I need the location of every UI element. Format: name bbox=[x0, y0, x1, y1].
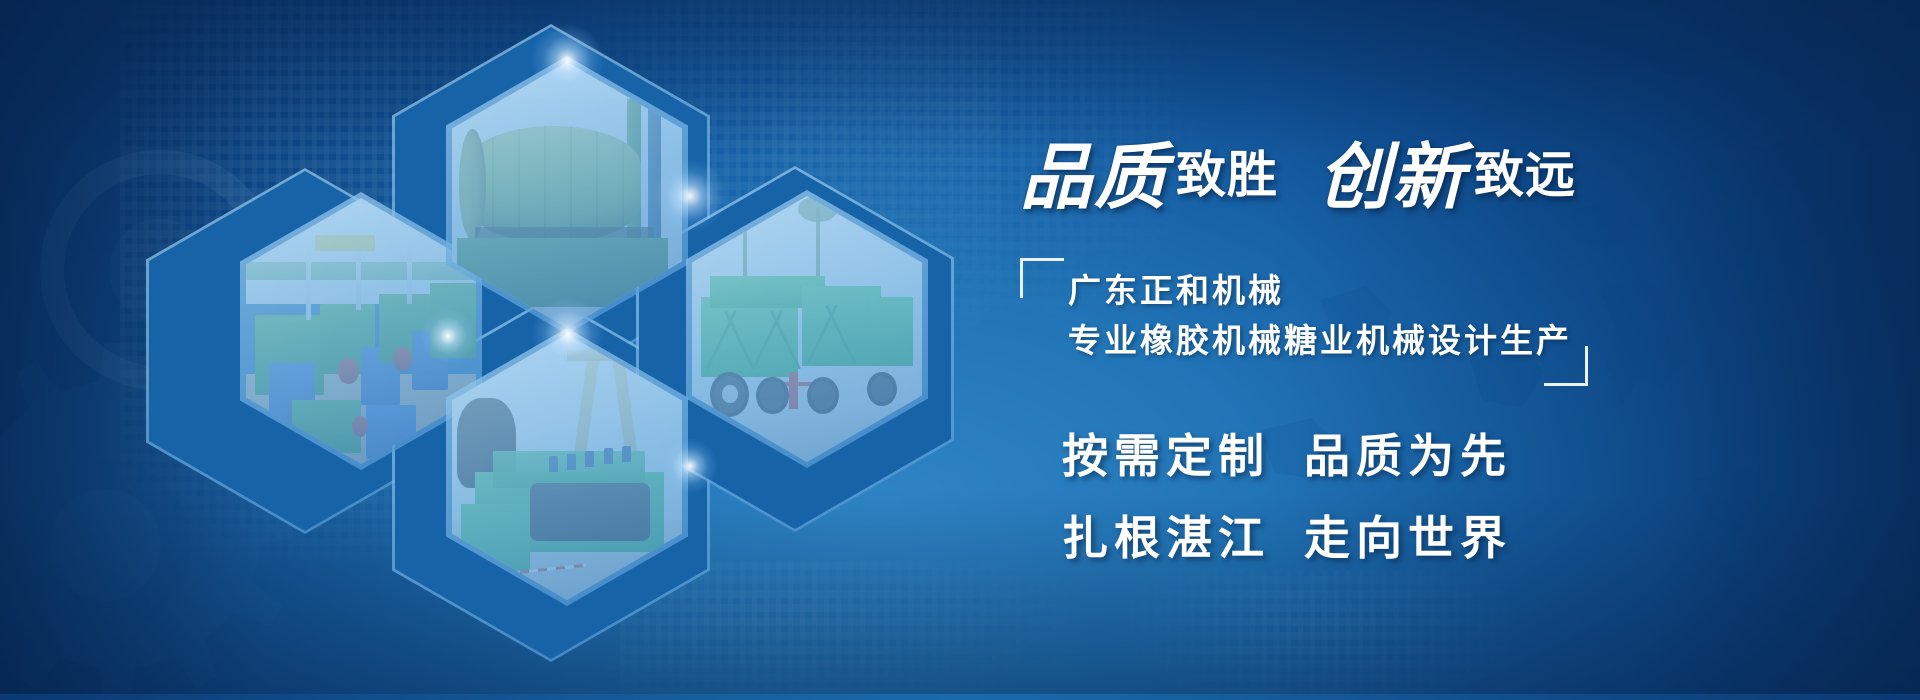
hexagon-photo-green-drum[interactable] bbox=[452, 62, 682, 328]
headline-part1-small: 致胜 bbox=[1176, 147, 1278, 203]
slogan-1-left: 按需定制 bbox=[1062, 429, 1270, 483]
promo-banner: 品质致胜创新致远 广东正和机械 专业橡胶机械糖业机械设计生产 按需定制品质为先 … bbox=[0, 0, 1920, 700]
slogan-line-2: 扎根湛江走向世界 bbox=[1062, 502, 1512, 568]
subtitle-line-1: 广东正和机械 bbox=[1068, 264, 1284, 312]
gallery-image-conveyor bbox=[452, 334, 682, 600]
slogan-1-right: 品质为先 bbox=[1304, 429, 1512, 483]
slogan-line-1: 按需定制品质为先 bbox=[1062, 420, 1512, 486]
subtitle-bracket-box: 广东正和机械 专业橡胶机械糖业机械设计生产 bbox=[1020, 258, 1560, 376]
subtitle-line-2: 专业橡胶机械糖业机械设计生产 bbox=[1068, 314, 1572, 362]
hexagon-photo-trailer[interactable] bbox=[692, 196, 922, 462]
corner-bracket-icon bbox=[1020, 258, 1064, 298]
hexagon-photo-conveyor[interactable] bbox=[452, 334, 682, 600]
slogan-2-right: 走向世界 bbox=[1304, 511, 1512, 565]
bottom-accent-line bbox=[0, 694, 1920, 700]
hexagon-photo-factory-line[interactable] bbox=[246, 198, 476, 464]
banner-text-block: 品质致胜创新致远 广东正和机械 专业橡胶机械糖业机械设计生产 按需定制品质为先 … bbox=[1010, 90, 1770, 610]
headline-part1-big: 品质 bbox=[1020, 134, 1168, 219]
headline: 品质致胜创新致远 bbox=[1020, 118, 1582, 223]
headline-part2-small: 致远 bbox=[1474, 147, 1576, 203]
gallery-image-green-drum bbox=[452, 62, 682, 328]
gallery-image-trailer bbox=[692, 196, 922, 462]
hexagon-gallery bbox=[0, 0, 900, 700]
slogan-2-left: 扎根湛江 bbox=[1062, 511, 1270, 565]
headline-part2-big: 创新 bbox=[1318, 134, 1466, 219]
